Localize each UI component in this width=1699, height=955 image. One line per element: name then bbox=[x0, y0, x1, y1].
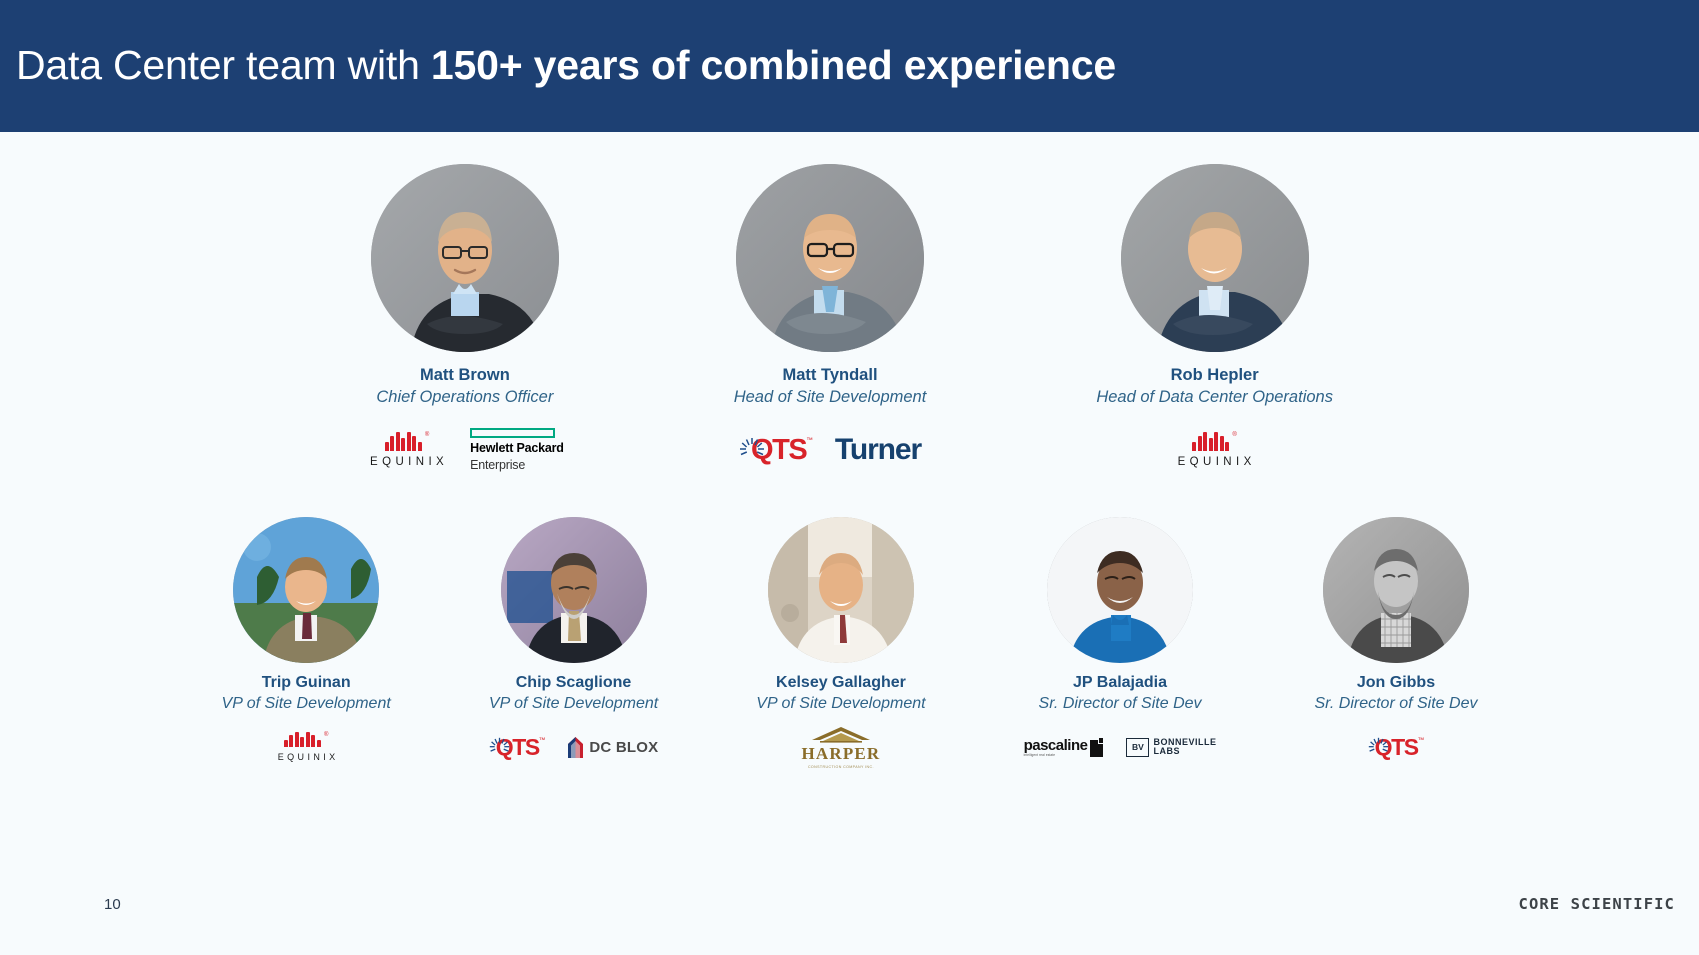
member-name: Jon Gibbs bbox=[1357, 674, 1435, 692]
page-title-bold: 150+ years of combined experience bbox=[431, 42, 1116, 88]
member-title: VP of Site Development bbox=[756, 695, 925, 713]
qts-logo: QTS ™ bbox=[1368, 734, 1425, 761]
member-logo-strip: ® EQUINIX bbox=[1174, 427, 1256, 473]
member-title: Head of Data Center Operations bbox=[1096, 388, 1333, 407]
equinix-registered-mark: ® bbox=[324, 732, 328, 738]
equinix-logo: ® EQUINIX bbox=[366, 432, 448, 468]
team-member-card[interactable]: Matt Brown Chief Operations Officer ® EQ… bbox=[366, 164, 564, 473]
equinix-registered-mark: ® bbox=[425, 432, 429, 438]
member-name: Rob Hepler bbox=[1171, 366, 1259, 385]
core-scientific-logo: CORE SCIENTIFIC bbox=[1519, 895, 1675, 913]
page-title-light: Data Center team with bbox=[16, 42, 431, 88]
member-title: Head of Site Development bbox=[734, 388, 927, 407]
qts-burst-icon bbox=[489, 737, 510, 758]
equinix-logo: ® EQUINIX bbox=[274, 732, 339, 762]
equinix-wordmark: EQUINIX bbox=[274, 752, 339, 762]
equinix-registered-mark: ® bbox=[1232, 432, 1236, 438]
member-logo-strip: ® EQUINIX bbox=[274, 730, 339, 764]
pascaline-mark-icon bbox=[1089, 738, 1104, 757]
page-number: 10 bbox=[104, 896, 121, 913]
team-member-card[interactable]: Chip Scaglione VP of Site Development bbox=[489, 517, 659, 764]
member-logo-strip: QTS ™ Turner bbox=[739, 427, 921, 473]
avatar bbox=[501, 517, 647, 663]
slide-root: Data Center team with 150+ years of comb… bbox=[0, 0, 1699, 955]
avatar bbox=[371, 164, 559, 352]
member-logo-strip: QTS ™ bbox=[1368, 730, 1425, 764]
member-name: Matt Tyndall bbox=[783, 366, 878, 385]
bonneville-mark-icon: BV bbox=[1126, 738, 1149, 757]
avatar bbox=[1323, 517, 1469, 663]
hpe-logo: Hewlett Packard Enterprise bbox=[470, 428, 564, 472]
avatar bbox=[1121, 164, 1309, 352]
avatar bbox=[233, 517, 379, 663]
qts-logo: QTS ™ bbox=[739, 434, 813, 467]
avatar bbox=[1047, 517, 1193, 663]
team-member-card[interactable]: Kelsey Gallagher VP of Site Development … bbox=[756, 517, 925, 764]
equinix-mark-icon: ® bbox=[1192, 432, 1236, 451]
qts-trademark: ™ bbox=[539, 737, 546, 744]
member-logo-strip: QTS ™ DC BLOX bbox=[489, 730, 659, 764]
harper-wordmark: HARPER bbox=[801, 744, 880, 764]
equinix-mark-icon: ® bbox=[284, 732, 328, 747]
member-title: Sr. Director of Site Dev bbox=[1314, 695, 1477, 713]
member-logo-strip: ® EQUINIX Hewlett Packard Enterprise bbox=[366, 427, 564, 473]
dcblox-logo: DC BLOX bbox=[567, 737, 658, 758]
team-member-card[interactable]: Trip Guinan VP of Site Development ® EQU… bbox=[222, 517, 391, 764]
harper-tagline: CONSTRUCTION COMPANY INC. bbox=[808, 765, 874, 769]
qts-burst-icon bbox=[739, 437, 765, 463]
team-member-card[interactable]: Matt Tyndall Head of Site Development bbox=[734, 164, 927, 473]
equinix-wordmark: EQUINIX bbox=[366, 456, 448, 468]
hpe-line1: Hewlett Packard bbox=[470, 442, 564, 455]
member-name: JP Balajadia bbox=[1073, 674, 1167, 692]
hpe-line2: Enterprise bbox=[470, 459, 525, 472]
avatar bbox=[736, 164, 924, 352]
member-name: Matt Brown bbox=[420, 366, 510, 385]
qts-trademark: ™ bbox=[1418, 737, 1425, 744]
qts-burst-icon bbox=[1368, 737, 1389, 758]
team-row-1: Matt Brown Chief Operations Officer ® EQ… bbox=[0, 164, 1699, 473]
member-title: Chief Operations Officer bbox=[376, 388, 553, 407]
equinix-mark-icon: ® bbox=[385, 432, 429, 451]
member-title: VP of Site Development bbox=[222, 695, 391, 713]
pascaline-wordmark: pascaline bbox=[1024, 738, 1088, 753]
member-logo-strip: HARPER CONSTRUCTION COMPANY INC. bbox=[801, 730, 880, 764]
team-member-card[interactable]: Rob Hepler Head of Data Center Operation… bbox=[1096, 164, 1333, 473]
member-name: Trip Guinan bbox=[262, 674, 351, 692]
member-title: VP of Site Development bbox=[489, 695, 658, 713]
harper-roof-icon bbox=[810, 726, 872, 743]
equinix-wordmark: EQUINIX bbox=[1174, 456, 1256, 468]
dcblox-wordmark: DC BLOX bbox=[589, 739, 658, 756]
qts-trademark: ™ bbox=[806, 437, 813, 444]
pascaline-logo: pascaline intelligent real estate bbox=[1024, 738, 1105, 757]
team-member-card[interactable]: JP Balajadia Sr. Director of Site Dev pa… bbox=[1024, 517, 1217, 764]
member-title: Sr. Director of Site Dev bbox=[1039, 695, 1202, 713]
team-member-card[interactable]: Jon Gibbs Sr. Director of Site Dev bbox=[1314, 517, 1477, 764]
bonneville-line2: LABS bbox=[1153, 747, 1216, 756]
member-name: Chip Scaglione bbox=[516, 674, 632, 692]
member-logo-strip: pascaline intelligent real estate BV BON… bbox=[1024, 730, 1217, 764]
turner-logo: Turner bbox=[835, 433, 921, 467]
slide-header-bar: Data Center team with 150+ years of comb… bbox=[0, 0, 1699, 132]
bonneville-labs-logo: BV BONNEVILLE LABS bbox=[1126, 738, 1216, 757]
hpe-bar-icon bbox=[470, 428, 555, 438]
team-grid: Matt Brown Chief Operations Officer ® EQ… bbox=[0, 132, 1699, 955]
team-row-2: Trip Guinan VP of Site Development ® EQU… bbox=[0, 517, 1699, 764]
equinix-logo: ® EQUINIX bbox=[1174, 432, 1256, 468]
harper-logo: HARPER CONSTRUCTION COMPANY INC. bbox=[801, 726, 880, 769]
dcblox-mark-icon bbox=[567, 737, 584, 758]
qts-logo: QTS ™ bbox=[489, 734, 546, 761]
avatar bbox=[768, 517, 914, 663]
member-name: Kelsey Gallagher bbox=[776, 674, 906, 692]
page-title: Data Center team with 150+ years of comb… bbox=[0, 43, 1116, 88]
